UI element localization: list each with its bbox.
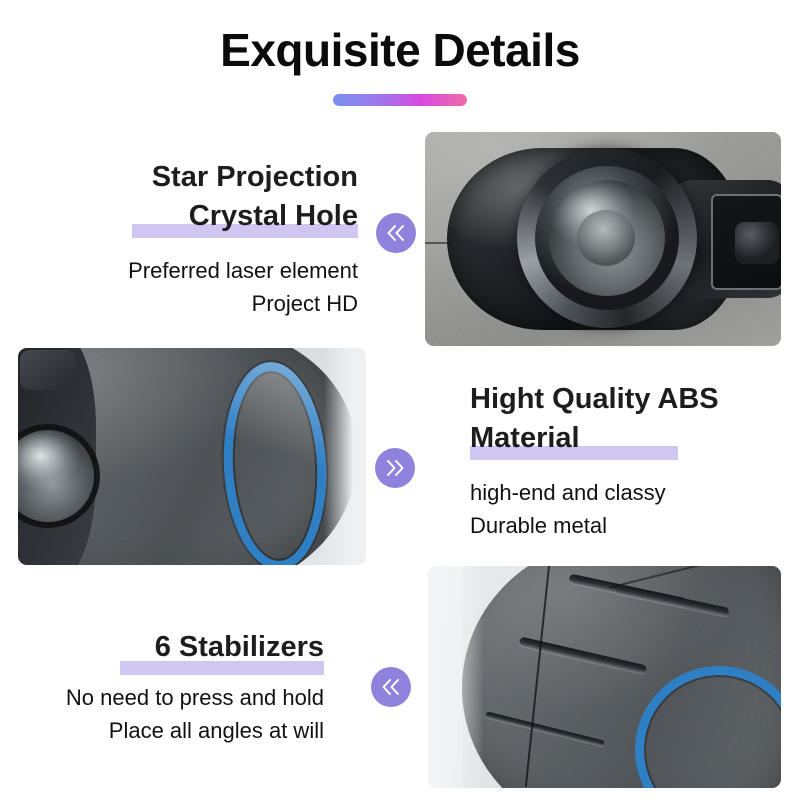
lens-module-photo (425, 132, 781, 346)
top-vent-notch (20, 350, 76, 390)
feature-body: high-end and classy Durable metal (470, 476, 788, 543)
body-seam-line (425, 242, 451, 244)
sensor-element (735, 222, 779, 264)
feature-block-abs-material: Hight Quality ABS Material high-end and … (470, 380, 788, 543)
title-gradient-divider (333, 94, 467, 106)
chevron-double-left-icon[interactable] (376, 213, 416, 253)
blue-ring-closeup-photo (18, 348, 366, 565)
feature-heading: Hight Quality ABS Material (470, 380, 788, 458)
feature-block-star-projection: Star Projection Crystal Hole Preferred l… (58, 158, 358, 321)
stabilizer-ribs-photo (428, 566, 781, 788)
chevron-double-right-icon[interactable] (375, 448, 415, 488)
chevron-double-left-icon[interactable] (371, 667, 411, 707)
infographic-page: Exquisite Details (0, 0, 800, 800)
page-title: Exquisite Details (0, 26, 800, 76)
photo-edge-fade (324, 348, 366, 565)
photo-edge-fade (428, 566, 484, 788)
feature-body: Preferred laser element Project HD (58, 254, 358, 321)
feature-body: No need to press and hold Place all angl… (34, 681, 324, 748)
lens-core-highlight (577, 210, 635, 266)
feature-heading: 6 Stabilizers (34, 628, 324, 667)
feature-heading: Star Projection Crystal Hole (58, 158, 358, 236)
feature-block-stabilizers: 6 Stabilizers No need to press and hold … (34, 628, 324, 748)
